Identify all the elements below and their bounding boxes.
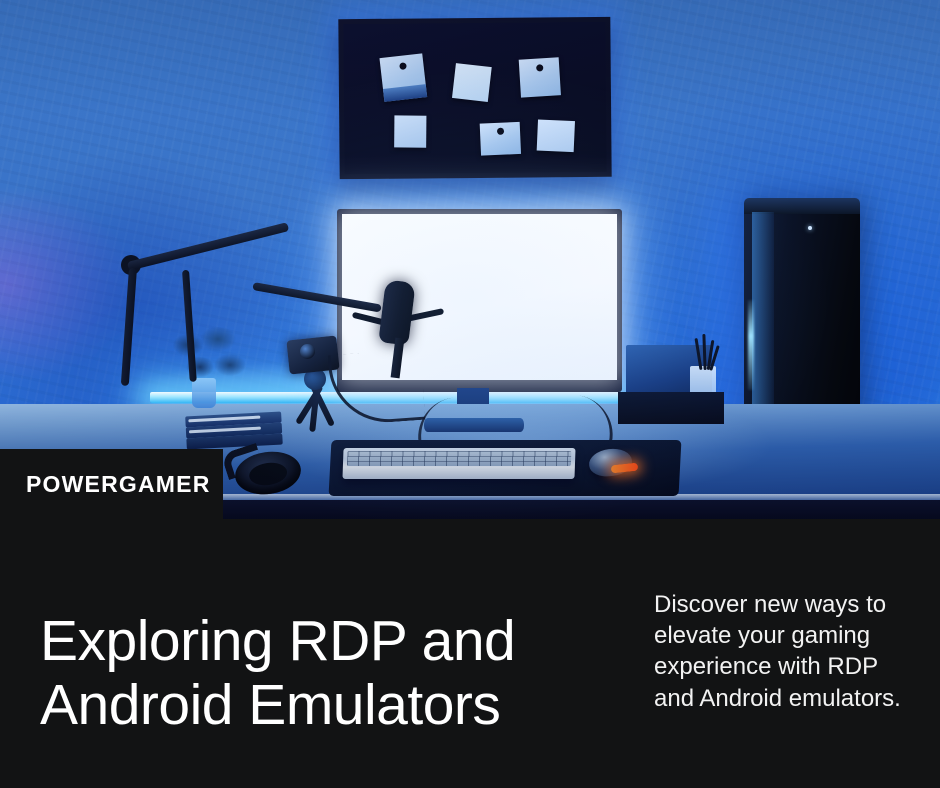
pushpin-icon	[399, 62, 407, 70]
pushpin-icon	[497, 128, 504, 135]
pinned-note	[452, 63, 492, 102]
book-pages	[188, 416, 260, 423]
pinned-note	[394, 115, 426, 147]
page-title-line-2: Android Emulators	[40, 674, 640, 738]
pc-power-indicator	[808, 226, 812, 230]
page-title-line-1: Exploring RDP and	[40, 609, 515, 673]
keyboard	[342, 448, 575, 479]
page-title: Exploring RDP and Android Emulators	[40, 610, 640, 738]
book-stack	[185, 412, 283, 451]
bulletin-board	[338, 17, 611, 179]
hero-photo	[0, 0, 940, 519]
bulletin-board-surface	[343, 22, 606, 174]
pinned-note	[480, 122, 521, 156]
brand-badge: POWERGAMER	[0, 449, 223, 519]
book-pages	[189, 427, 261, 434]
plant-vase	[192, 378, 216, 408]
pinned-note	[537, 120, 575, 153]
desk-shelf-shadow	[618, 392, 724, 424]
pinned-note	[379, 53, 427, 102]
pc-tower-led	[748, 300, 754, 390]
pushpin-icon	[536, 64, 543, 71]
keyboard-keys	[347, 451, 572, 466]
pinned-note	[519, 57, 561, 97]
camera-lens	[300, 344, 315, 359]
brand-badge-label: POWERGAMER	[0, 471, 211, 498]
poster-canvas: POWERGAMER Exploring RDP and Android Emu…	[0, 0, 940, 788]
page-subtitle: Discover new ways to elevate your gaming…	[654, 589, 904, 714]
